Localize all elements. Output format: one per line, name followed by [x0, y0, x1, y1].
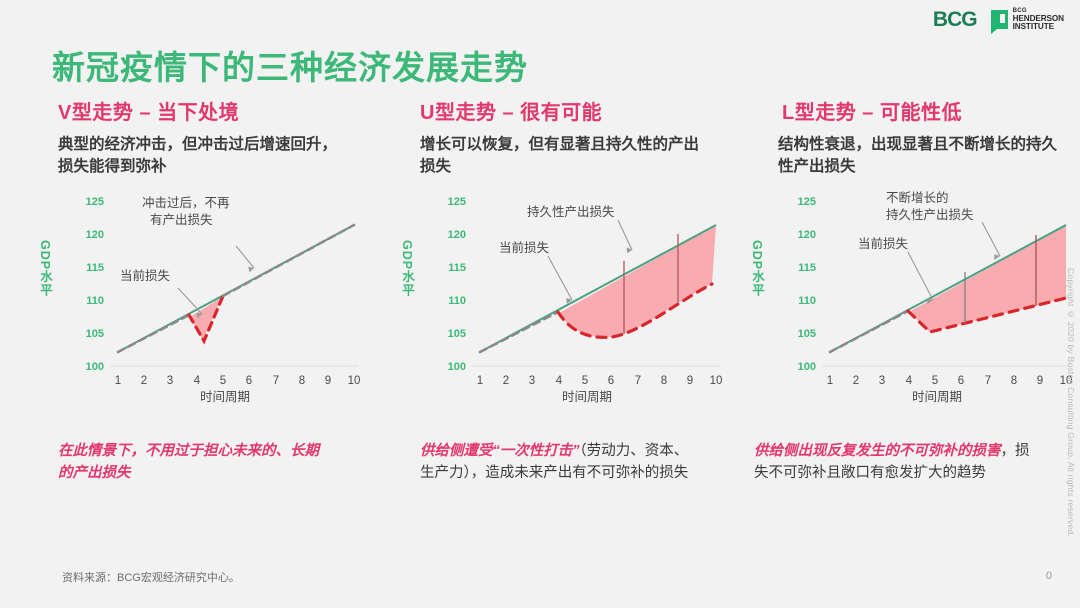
caption-pink-text: 供给侧遭受“一次性打击” — [420, 443, 580, 459]
caption-l-shape: 供给侧出现反复发生的不可弥补的损害，损失不可弥补且敞口有愈发扩大的趋势 — [754, 440, 1036, 485]
annotation-current-loss: 当前损失 — [858, 236, 908, 253]
annotation-growing-loss-line1: 不断增长的 — [886, 190, 949, 207]
svg-text:2: 2 — [141, 375, 147, 387]
caption-v-shape: 在此情景下，不用过于担心未来的、长期的产出损失 — [58, 440, 326, 485]
svg-text:9: 9 — [325, 375, 331, 387]
svg-text:9: 9 — [687, 375, 693, 387]
svg-text:1: 1 — [115, 375, 121, 387]
chart-v-shape: 125 120 115 110 105 100 — [58, 188, 368, 403]
column-v-shape: V型走势 – 当下处境 典型的经济冲击，但冲击过后增速回升，损失能得到弥补 12… — [0, 96, 376, 403]
svg-text:125: 125 — [86, 196, 104, 208]
y-axis-label: GDP水平 — [36, 240, 55, 297]
svg-text:7: 7 — [273, 375, 279, 387]
annotation-no-permanent-loss-line2: 有产出损失 — [150, 212, 213, 229]
y-axis-label: GDP水平 — [748, 240, 767, 297]
bhi-line-3: INSTITUTE — [1013, 23, 1064, 31]
bcg-logo: BCG — [933, 8, 977, 32]
svg-text:2: 2 — [503, 375, 509, 387]
svg-text:115: 115 — [448, 262, 466, 274]
svg-text:105: 105 — [448, 328, 466, 340]
columns-container: V型走势 – 当下处境 典型的经济冲击，但冲击过后增速回升，损失能得到弥补 12… — [0, 96, 1080, 403]
svg-text:105: 105 — [86, 328, 104, 340]
svg-text:125: 125 — [448, 196, 466, 208]
column-subtitle: 结构性衰退，出现显著且不断增长的持久性产出损失 — [778, 134, 1060, 178]
svg-text:115: 115 — [798, 262, 816, 274]
annotation-no-permanent-loss-line1: 冲击过后，不再 — [142, 195, 230, 212]
caption-pink-text: 供给侧出现反复发生的不可弥补的损害 — [754, 443, 1001, 459]
bhi-mark-icon — [991, 10, 1008, 29]
svg-text:105: 105 — [798, 328, 816, 340]
annotation-current-loss: 当前损失 — [120, 268, 170, 285]
column-heading: L型走势 – 可能性低 — [754, 96, 1080, 125]
source-note: 资料来源：BCG宏观经济研究中心。 — [62, 569, 240, 585]
x-axis-label: 时间周期 — [562, 386, 612, 405]
column-l-shape: L型走势 – 可能性低 结构性衰退，出现显著且不断增长的持久性产出损失 125 … — [738, 96, 1080, 403]
svg-text:110: 110 — [86, 295, 104, 307]
y-axis-label: GDP水平 — [398, 240, 417, 297]
svg-text:1: 1 — [477, 375, 483, 387]
x-axis-label: 时间周期 — [912, 386, 962, 405]
caption-pink-text: 在此情景下，不用过于担心未来的、长期的产出损失 — [58, 443, 319, 481]
column-subtitle: 典型的经济冲击，但冲击过后增速回升，损失能得到弥补 — [58, 134, 340, 178]
svg-text:7: 7 — [985, 375, 991, 387]
svg-text:3: 3 — [879, 375, 885, 387]
annotation-permanent-loss: 持久性产出损失 — [527, 204, 615, 221]
caption-u-shape: 供给侧遭受“一次性打击”（劳动力、资本、生产力），造成未来产出有不可弥补的损失 — [420, 440, 698, 485]
column-u-shape: U型走势 – 很有可能 增长可以恢复，但有显著且持久性的产出损失 125 120… — [376, 96, 738, 403]
bhi-logo-text: BCG HENDERSON INSTITUTE — [1013, 8, 1064, 31]
svg-text:3: 3 — [167, 375, 173, 387]
svg-text:10: 10 — [710, 375, 723, 387]
svg-text:115: 115 — [86, 262, 104, 274]
page-number: 0 — [1046, 570, 1052, 582]
chart-v-svg: 125 120 115 110 105 100 — [58, 188, 368, 403]
slide-root: BCG BCG HENDERSON INSTITUTE 新冠疫情下的三种经济发展… — [0, 0, 1080, 608]
logo-area: BCG BCG HENDERSON INSTITUTE — [933, 8, 1064, 32]
svg-text:100: 100 — [86, 361, 104, 373]
svg-text:100: 100 — [448, 361, 466, 373]
annotation-current-loss: 当前损失 — [499, 240, 549, 257]
svg-text:8: 8 — [661, 375, 667, 387]
chart-u-shape: 125 120 115 110 105 100 — [420, 188, 730, 403]
svg-text:10: 10 — [348, 375, 361, 387]
column-subtitle: 增长可以恢复，但有显著且持久性的产出损失 — [420, 134, 702, 178]
svg-text:2: 2 — [853, 375, 859, 387]
x-axis-label: 时间周期 — [200, 386, 250, 405]
column-heading: V型走势 – 当下处境 — [58, 96, 376, 125]
svg-text:7: 7 — [635, 375, 641, 387]
bcg-henderson-institute-logo: BCG HENDERSON INSTITUTE — [991, 8, 1064, 31]
column-heading: U型走势 – 很有可能 — [420, 96, 738, 125]
svg-text:8: 8 — [1011, 375, 1017, 387]
svg-text:120: 120 — [448, 229, 466, 241]
svg-text:100: 100 — [798, 361, 816, 373]
svg-text:9: 9 — [1037, 375, 1043, 387]
chart-l-shape: 125 120 115 110 105 100 — [770, 188, 1080, 403]
svg-text:120: 120 — [86, 229, 104, 241]
svg-text:110: 110 — [448, 295, 466, 307]
svg-text:8: 8 — [299, 375, 305, 387]
annotation-growing-loss-line2: 持久性产出损失 — [886, 207, 974, 224]
svg-text:120: 120 — [798, 229, 816, 241]
svg-text:125: 125 — [798, 196, 816, 208]
copyright-notice: Copyright © 2020 by Boston Consulting Gr… — [1066, 268, 1076, 537]
page-title: 新冠疫情下的三种经济发展走势 — [52, 41, 528, 89]
svg-text:110: 110 — [798, 295, 816, 307]
svg-text:1: 1 — [827, 375, 833, 387]
svg-text:3: 3 — [529, 375, 535, 387]
